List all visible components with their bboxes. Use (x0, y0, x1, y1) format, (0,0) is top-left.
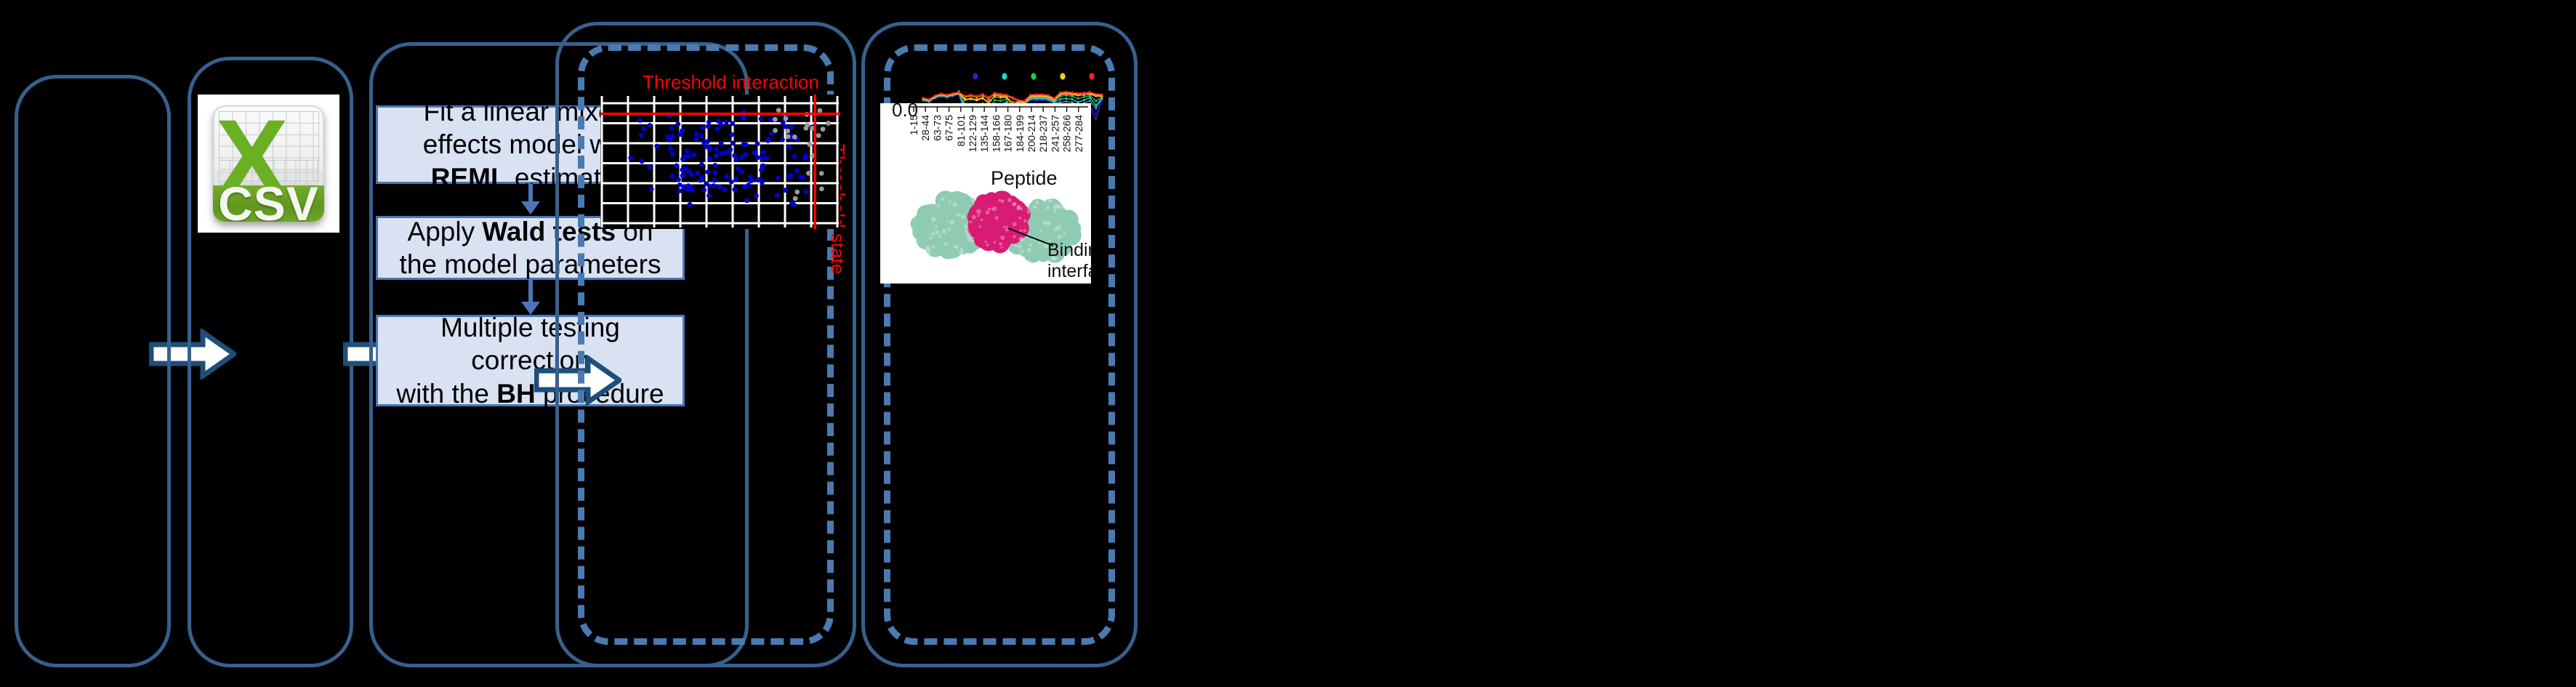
svg-text:28-44: 28-44 (919, 115, 931, 141)
svg-text:277-284: 277-284 (1073, 115, 1084, 153)
svg-text:81-101: 81-101 (955, 115, 967, 147)
svg-text:184-199: 184-199 (1014, 115, 1026, 153)
scatter-plot (600, 95, 840, 229)
y-tick-label: 0.0 (892, 103, 918, 121)
svg-text:158-166: 158-166 (990, 115, 1002, 153)
binding-interface-annotation: Binding interface (1047, 240, 1091, 282)
svg-text:218-237: 218-237 (1037, 115, 1049, 153)
arrow-head (521, 201, 540, 214)
peptide-figure-card: 0.0 1-1528-4463-7367-7581-101122-129135-… (880, 103, 1091, 284)
svg-text:241-257: 241-257 (1049, 115, 1060, 153)
svg-text:135-144: 135-144 (978, 115, 990, 153)
svg-text:122-129: 122-129 (967, 115, 978, 153)
svg-text:200-214: 200-214 (1026, 115, 1037, 153)
svg-text:167-180: 167-180 (1002, 115, 1014, 153)
svg-text:63-73: 63-73 (931, 115, 943, 141)
arrow-shaft (528, 280, 533, 303)
csv-label-band: CSV (213, 185, 323, 221)
workflow-diagram: X CSV Fit a linear mixed-effects model w… (0, 0, 2576, 687)
arrow-wald-to-bh (526, 280, 536, 315)
svg-text:258-266: 258-266 (1061, 115, 1073, 153)
csv-file-card: X CSV (198, 95, 339, 233)
csv-label: CSV (218, 176, 319, 222)
svg-text:67-75: 67-75 (943, 115, 955, 141)
arrow-shaft (528, 184, 533, 203)
sidebar-item-input-panel (15, 75, 171, 667)
csv-icon: X CSV (213, 105, 323, 222)
x-axis-label: Peptide (991, 167, 1058, 190)
threshold-interaction-label: Threshold interaction (643, 71, 819, 94)
arrow-fit-to-wald (526, 184, 536, 214)
